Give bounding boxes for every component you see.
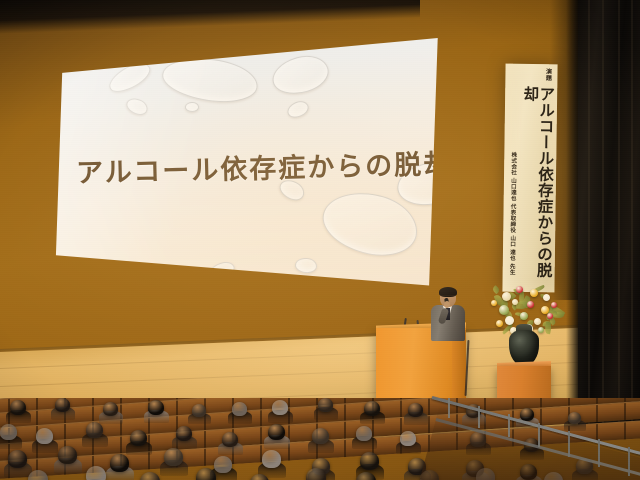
photo-vignette <box>0 0 640 480</box>
lecture-hall-screenshot: アルコール依存症からの脱却 演題 アルコール依存症からの脱却 株式会社 山口達也… <box>0 0 640 480</box>
